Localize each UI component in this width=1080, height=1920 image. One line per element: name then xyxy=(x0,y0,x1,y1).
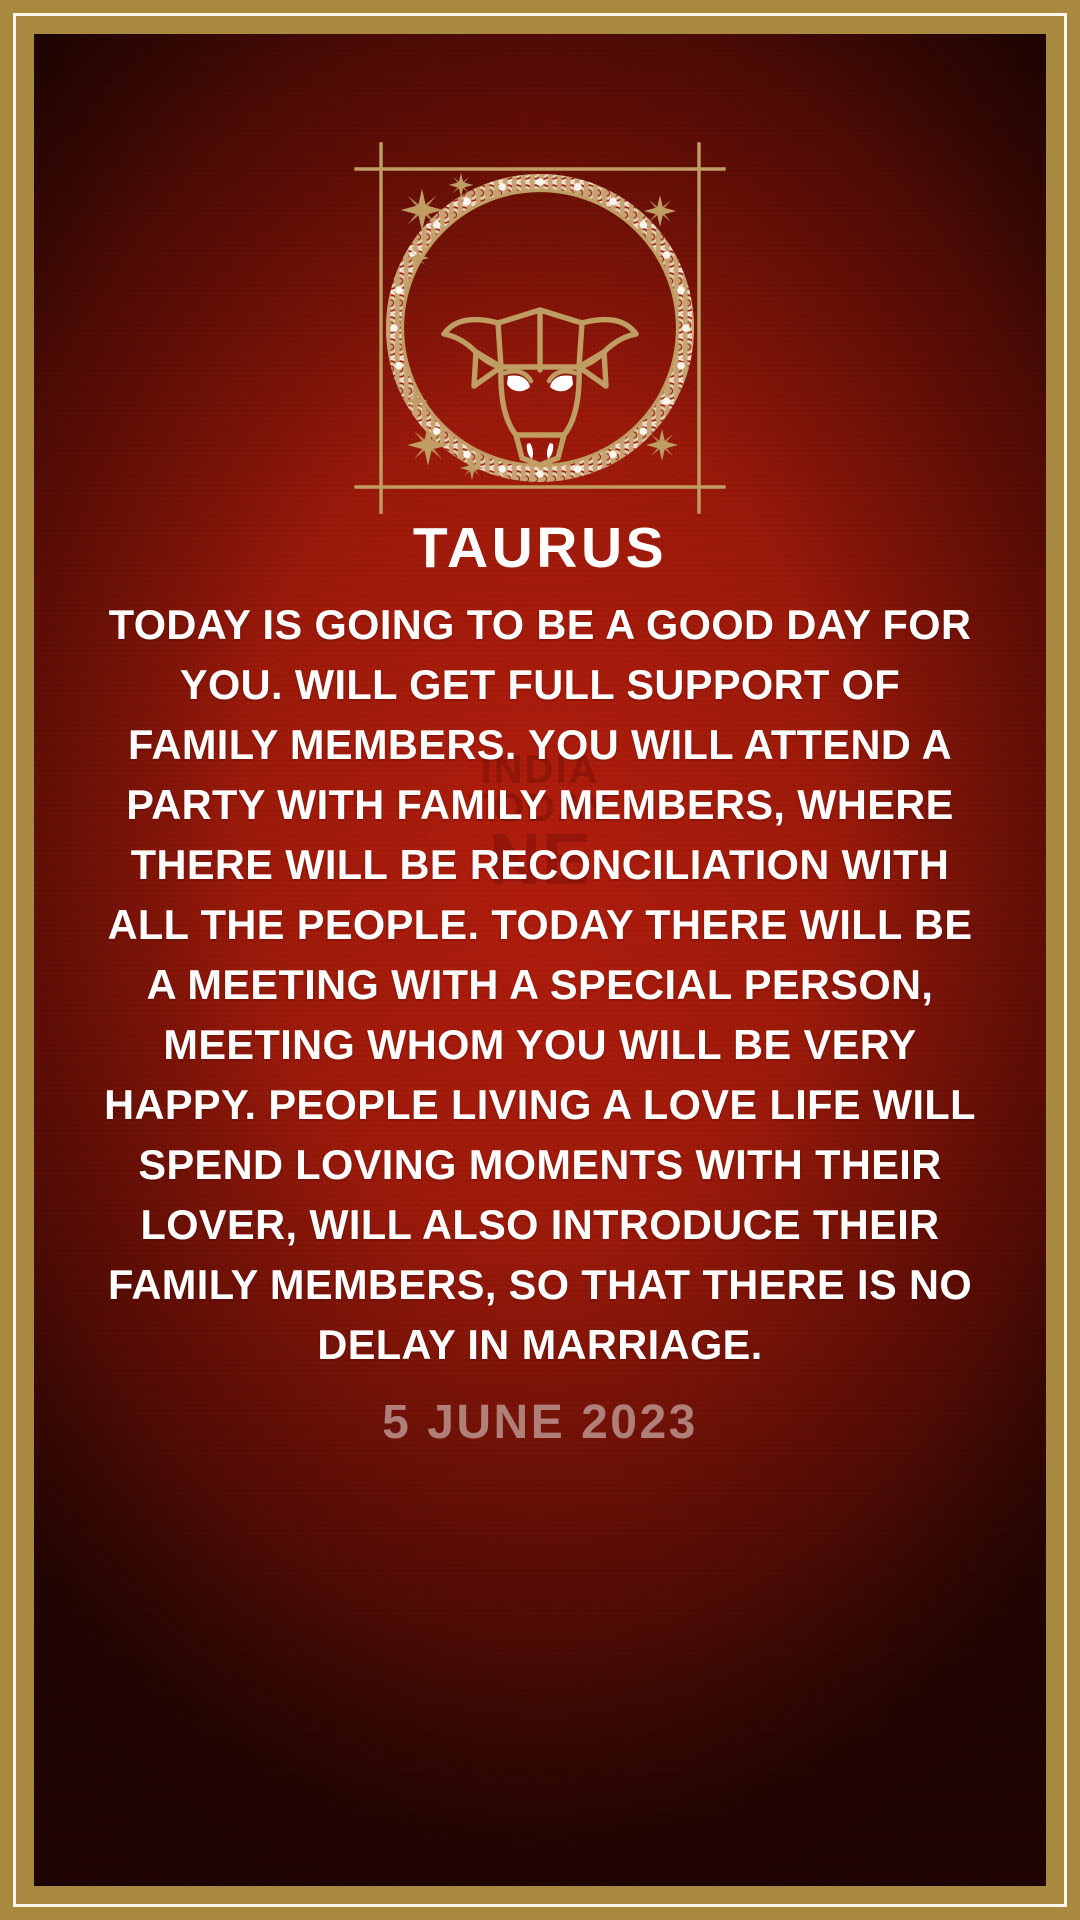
horoscope-date: 5 JUNE 2023 xyxy=(34,1395,1046,1450)
poster-background: INDIA TODAY NE xyxy=(34,34,1046,1886)
poster-content: INDIA TODAY NE xyxy=(34,34,1046,1886)
page-title: TAURUS xyxy=(34,515,1046,581)
horoscope-card: INDIA TODAY NE xyxy=(0,0,1080,1920)
bull-nostril-icons xyxy=(527,443,554,459)
bull-head-icon xyxy=(444,310,636,465)
bull-eye-icons xyxy=(507,375,573,391)
horoscope-body-text: TODAY IS GOING TO BE A GOOD DAY FOR YOU.… xyxy=(104,595,976,1375)
taurus-zodiac-emblem xyxy=(350,138,730,518)
